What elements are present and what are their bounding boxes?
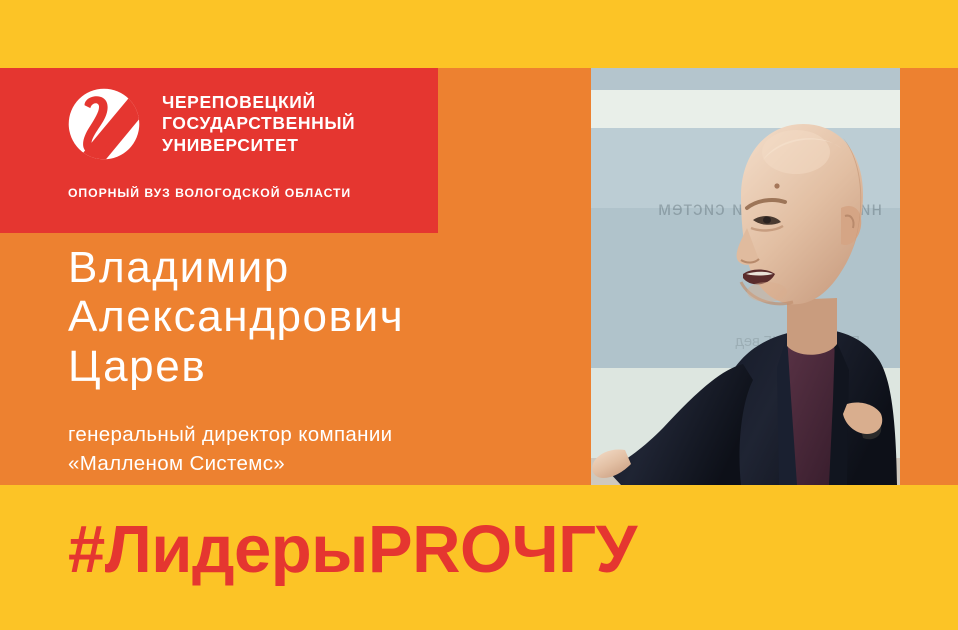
- speaker-photo: ние приборов и систем России и СНГ вед ц…: [591, 68, 900, 485]
- logo-line-2: ГОСУДАРСТВЕННЫЙ: [162, 113, 355, 134]
- university-logo-block: ЧЕРЕПОВЕЦКИЙ ГОСУДАРСТВЕННЫЙ УНИВЕРСИТЕТ…: [0, 68, 438, 233]
- speaker-name-line-2: Александрович: [68, 292, 588, 341]
- top-yellow-band: [0, 0, 958, 68]
- speaker-role: генеральный директор компании «Малленом …: [68, 420, 588, 478]
- logo-lockup: ЧЕРЕПОВЕЦКИЙ ГОСУДАРСТВЕННЫЙ УНИВЕРСИТЕТ: [68, 88, 355, 160]
- poster: ЧЕРЕПОВЕЦКИЙ ГОСУДАРСТВЕННЫЙ УНИВЕРСИТЕТ…: [0, 0, 958, 630]
- logo-tagline: ОПОРНЫЙ ВУЗ ВОЛОГОДСКОЙ ОБЛАСТИ: [68, 186, 351, 200]
- logo-line-1: ЧЕРЕПОВЕЦКИЙ: [162, 92, 355, 113]
- logo-wordmark: ЧЕРЕПОВЕЦКИЙ ГОСУДАРСТВЕННЫЙ УНИВЕРСИТЕТ: [162, 92, 355, 156]
- campaign-hashtag: #ЛидерыPROЧГУ: [68, 516, 637, 583]
- logo-line-3: УНИВЕРСИТЕТ: [162, 135, 355, 156]
- speaker-name-line-1: Владимир: [68, 243, 588, 292]
- university-emblem-icon: [68, 88, 140, 160]
- speaker-name: Владимир Александрович Царев: [68, 243, 588, 391]
- speaker-role-line-2: «Малленом Системс»: [68, 449, 588, 478]
- speaker-name-line-3: Царев: [68, 342, 588, 391]
- speaker-role-line-1: генеральный директор компании: [68, 420, 588, 449]
